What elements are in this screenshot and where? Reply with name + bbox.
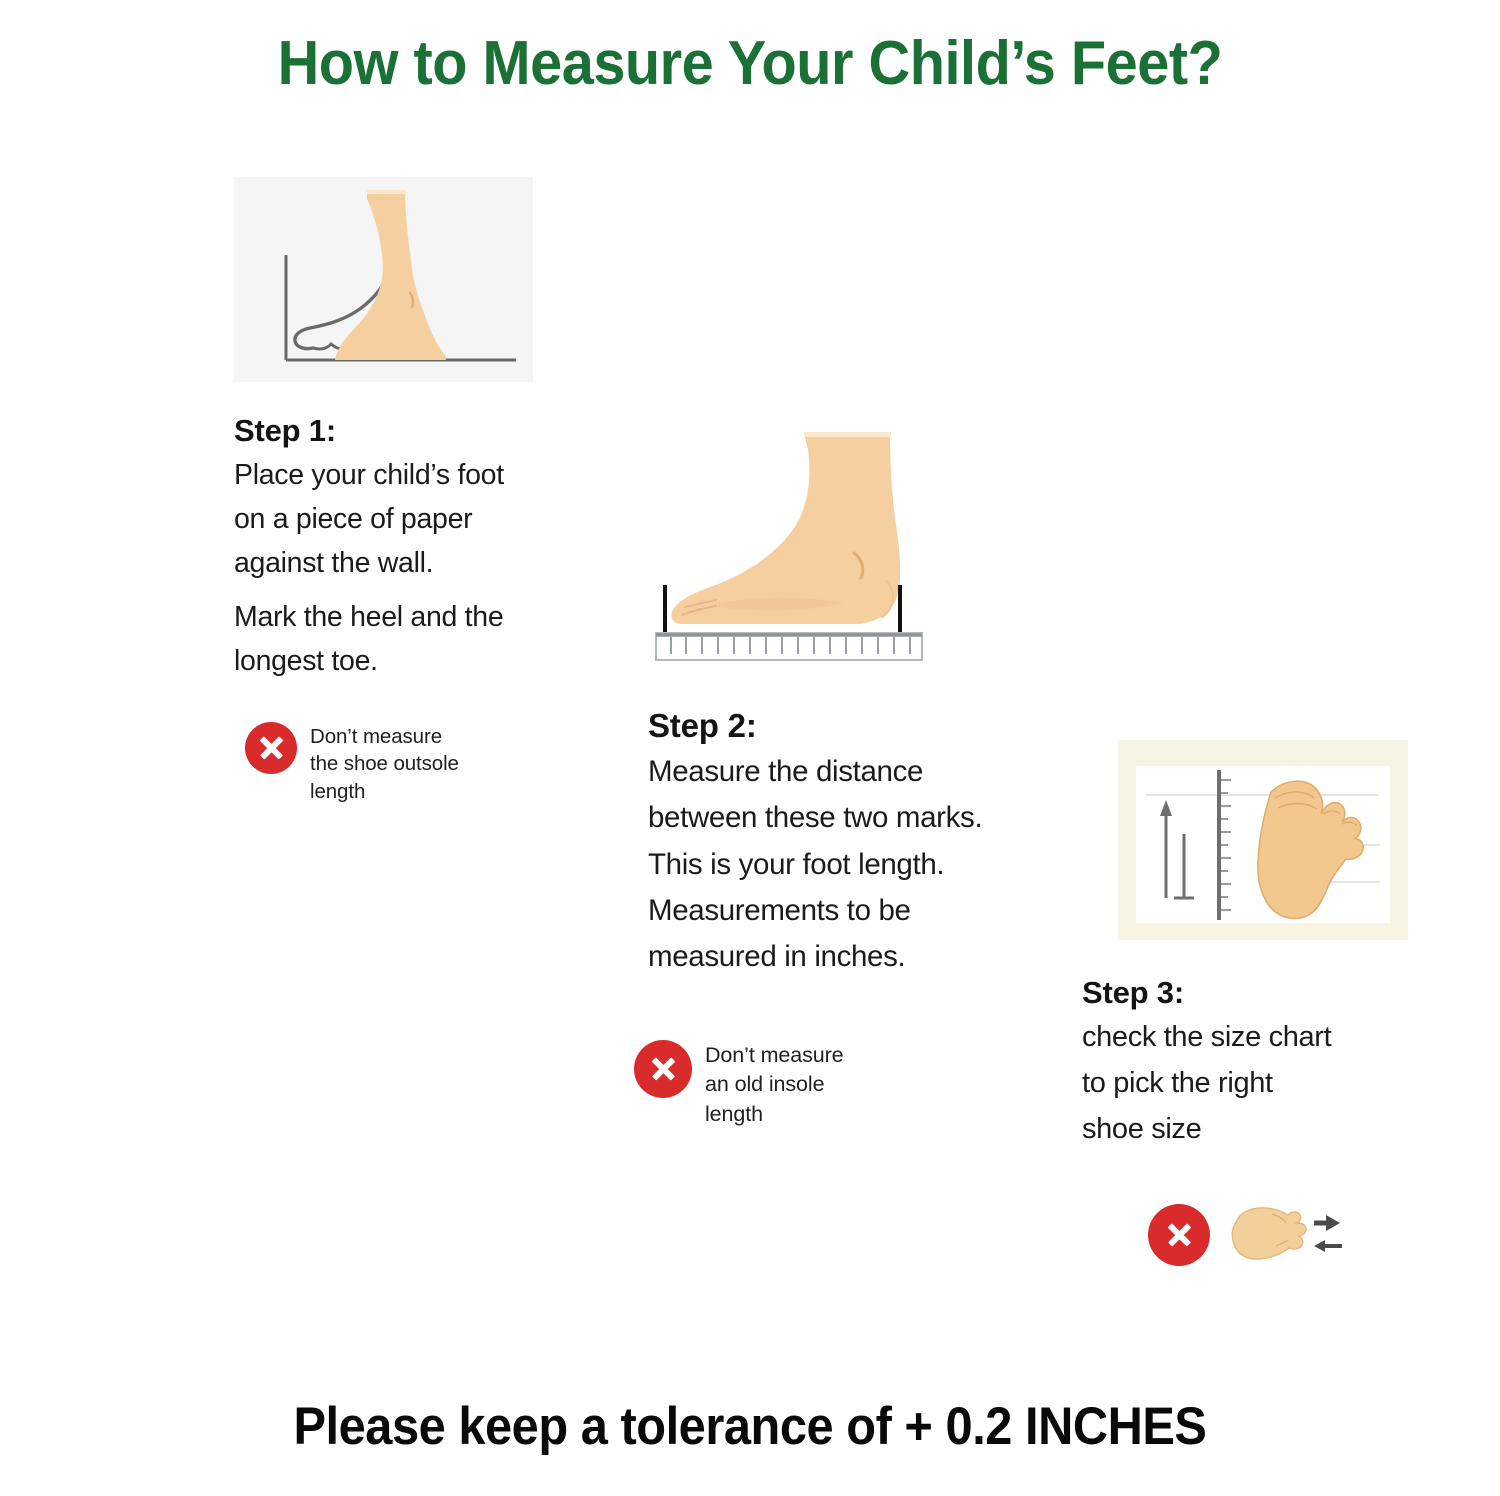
step-1-body-line-4: Mark the heel and the <box>234 595 564 639</box>
foot-sole-on-measuring-chart-diagram <box>1118 740 1408 940</box>
step-2-body-line-1: Measure the distance <box>648 749 1078 795</box>
page-title: How to Measure Your Child’s Feet? <box>53 28 1448 99</box>
step-3-body: check the size chart to pick the right s… <box>1082 1015 1422 1152</box>
foot-profile-with-ruler-diagram <box>648 425 948 665</box>
step-2-warning-text: Don’t measure an old insole length <box>705 1040 844 1129</box>
step-3-body-line-2: to pick the right <box>1082 1061 1422 1107</box>
red-x-circle-icon <box>245 722 297 774</box>
step-2-block: Step 2: Measure the distance between the… <box>648 425 1078 981</box>
paragraph-gap <box>234 586 564 595</box>
step-3-body-line-3: shoe size <box>1082 1107 1422 1153</box>
step-1-body: Place your child’s foot on a piece of pa… <box>234 453 564 683</box>
step-3-body-line-1: check the size chart <box>1082 1015 1422 1061</box>
red-x-circle-icon <box>634 1040 692 1098</box>
step-2-body-line-3: This is your foot length. <box>648 842 1078 888</box>
step-2-body: Measure the distance between these two m… <box>648 749 1078 981</box>
step-1-body-line-2: on a piece of paper <box>234 497 564 541</box>
step-2-warning-line-3: length <box>705 1100 844 1129</box>
step-3-block: Step 3: check the size chart to pick the… <box>1082 740 1422 1152</box>
step-3-heading: Step 3: <box>1082 975 1422 1011</box>
red-x-circle-icon <box>1148 1204 1210 1266</box>
step-1-body-line-3: against the wall. <box>234 541 564 585</box>
step-3-warning <box>1148 1200 1346 1270</box>
step-1-body-line-5: longest toe. <box>234 639 564 683</box>
foot-sole-with-arrows-icon <box>1226 1200 1346 1270</box>
foot-profile-against-wall-diagram <box>234 177 533 382</box>
step-2-body-line-5: measured in inches. <box>648 934 1078 980</box>
step-2-warning: Don’t measure an old insole length <box>634 1040 934 1129</box>
infographic-page: How to Measure Your Child’s Feet? Step 1… <box>0 0 1500 1496</box>
step-2-warning-line-1: Don’t measure <box>705 1041 844 1070</box>
step-1-body-line-1: Place your child’s foot <box>234 453 564 497</box>
step-1-warning-line-2: the shoe outsole <box>310 750 459 777</box>
step-1-warning: Don’t measure the shoe outsole length <box>245 722 459 805</box>
step-1-heading: Step 1: <box>234 413 564 449</box>
step-2-warning-line-2: an old insole <box>705 1070 844 1099</box>
step-1-warning-line-1: Don’t measure <box>310 723 459 750</box>
step-1-warning-line-3: length <box>310 778 459 805</box>
step-1-warning-text: Don’t measure the shoe outsole length <box>310 722 459 805</box>
step-1-figure <box>234 177 533 382</box>
step-3-figure <box>1118 740 1408 940</box>
step-2-heading: Step 2: <box>648 707 1078 745</box>
step-2-figure <box>648 425 948 665</box>
tolerance-note: Please keep a tolerance of + 0.2 INCHES <box>60 1396 1440 1457</box>
step-1-block: Step 1: Place your child’s foot on a pie… <box>234 177 564 683</box>
step-2-body-line-4: Measurements to be <box>648 888 1078 934</box>
step-2-body-line-2: between these two marks. <box>648 795 1078 841</box>
